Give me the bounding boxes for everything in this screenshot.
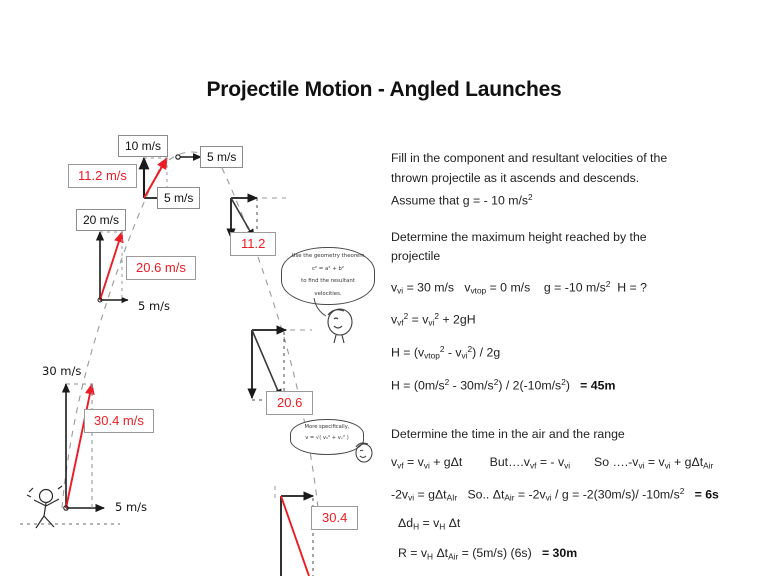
t1-p3: + gΔt	[430, 455, 462, 469]
slide-canvas: Projectile Motion - Angled Launches	[0, 0, 768, 576]
eq3-mid: - 30m/s	[449, 378, 493, 392]
label-launch-vertical: 30 m/s	[37, 362, 86, 380]
assume-exponent: 2	[528, 192, 533, 202]
time-range-prompt: Determine the time in the air and the ra…	[391, 426, 759, 443]
time-equation-2: -2vvi = gΔtAIr So.. ΔtAir = -2vvi / g = …	[391, 484, 759, 506]
apex-origin-dot	[176, 155, 180, 159]
lesson-text-column: Fill in the component and resultant velo…	[391, 150, 759, 575]
t1-p2: = v	[404, 455, 424, 469]
vvtop-subscript: vtop	[470, 285, 486, 295]
mid-ascent-resultant-vector	[100, 232, 122, 300]
height-given-values: vvi = 30 m/s vvtop = 0 m/s g = -10 m/s2 …	[391, 277, 759, 299]
t1-so: So ….-v	[594, 455, 638, 469]
range-answer: = 30m	[542, 546, 577, 560]
eq2-mid: - v	[444, 345, 461, 359]
projectile-trajectory-diagram: 30 m/s 30.4 m/s 5 m/s 20 m/s 20.6 m/s 5 …	[0, 0, 390, 576]
height-prompt-line-2: projectile	[391, 248, 759, 265]
label-upper-ascent-vertical: 10 m/s	[118, 135, 168, 157]
t4-p2sub: Air	[448, 551, 458, 561]
time-equation-1: vvf = vvi + gΔt But….vvf = - vvi So ….-v…	[391, 455, 759, 473]
assume-text: Assume that g = - 10 m/s	[391, 193, 528, 207]
t4-p1: R = v	[398, 546, 427, 560]
t2-p3: So.. Δt	[467, 487, 504, 501]
label-mid-ascent-horizontal: 5 m/s	[133, 297, 175, 315]
t2-p5sup: 2	[680, 486, 685, 496]
height-equation-2: H = (vvtop2 - vvi2) / 2g	[391, 342, 759, 364]
height-equation-1: vvf2 = vvi2 + 2gH	[391, 309, 759, 331]
range-equation-1: ΔdH = vH Δt	[398, 516, 759, 534]
height-equation-3: H = (0m/s2 - 30m/s2) / 2(-10m/s2) = 45m	[391, 375, 759, 393]
t1-but: But….v	[490, 455, 530, 469]
t2-p5: / g = -2(30m/s)/ -10m/s	[552, 487, 680, 501]
label-launch-horizontal: 5 m/s	[110, 498, 152, 516]
label-descent-lower-resultant: 30.4	[311, 506, 358, 530]
instruction-line-2: thrown projectile as it ascends and desc…	[391, 170, 759, 187]
descent-mid-resultant-vector	[252, 330, 281, 398]
label-mid-ascent-vertical: 20 m/s	[76, 209, 126, 231]
height-answer: = 45m	[580, 378, 615, 392]
bubble1-line3: to find the resultant	[282, 278, 374, 291]
assume-gravity: Assume that g = - 10 m/s2	[391, 189, 759, 209]
eq2-asub: vtop	[424, 351, 440, 361]
instruction-line-1: Fill in the component and resultant velo…	[391, 150, 759, 167]
t1-but2: = - v	[536, 455, 564, 469]
label-upper-ascent-resultant: 11.2 m/s	[68, 164, 137, 188]
thrower-figure	[27, 486, 62, 528]
descent-path	[222, 168, 318, 508]
t1-so3sub: Air	[703, 460, 713, 470]
time-answer: = 6s	[695, 487, 719, 501]
vvtop-value: = 0 m/s	[486, 280, 530, 294]
bubble2-line1: More specifically,	[291, 420, 363, 435]
bubble1-line2: c² = a² + b²	[282, 266, 374, 279]
t1-so2: = v	[644, 455, 664, 469]
eq2-lead: H = (v	[391, 345, 424, 359]
t4-p2: Δt	[433, 546, 448, 560]
eq3-lead: H = (0m/s	[391, 378, 445, 392]
height-prompt-line-1: Determine the maximum height reached by …	[391, 229, 759, 246]
eq2-tail: ) / 2g	[472, 345, 500, 359]
descent-lower-resultant-vector	[281, 496, 309, 576]
height-unknown: H = ?	[617, 280, 647, 294]
t2-p3sub: Air	[504, 492, 514, 502]
listener-face-1	[322, 305, 362, 345]
label-launch-resultant: 30.4 m/s	[84, 409, 154, 433]
eq1-tail: + 2gH	[439, 313, 476, 327]
t2-p4: = -2v	[515, 487, 546, 501]
range-equation-2: R = vH ΔtAir = (5m/s) (6s) = 30m	[398, 546, 759, 564]
geometry-theorem-bubble: Use the geometry theorem c² = a² + b² to…	[281, 247, 375, 305]
eq3-mid2: ) / 2(-10m/s	[498, 378, 561, 392]
t3-p3: Δt	[445, 516, 460, 530]
gravity-value: g = -10 m/s	[544, 280, 606, 294]
t3-p2: = v	[419, 516, 439, 530]
eq3-tail: )	[566, 378, 570, 392]
t1-but2sub: vi	[564, 460, 570, 470]
label-descent-upper-resultant: 11.2	[230, 232, 276, 256]
vvi-value: = 30 m/s	[403, 280, 454, 294]
t2-p1: -2v	[391, 487, 408, 501]
t3-p1: Δd	[398, 516, 413, 530]
label-upper-ascent-horizontal: 5 m/s	[157, 187, 200, 209]
gravity-exponent: 2	[606, 279, 611, 289]
bubble1-line1: Use the geometry theorem	[282, 248, 374, 266]
eq1-mid: = v	[408, 313, 428, 327]
label-descent-mid-resultant: 20.6	[266, 391, 313, 415]
label-apex-horizontal: 5 m/s	[200, 146, 243, 168]
t2-p2: = gΔt	[414, 487, 446, 501]
listener-face-2	[352, 440, 382, 470]
t4-p3: = (5m/s) (6s)	[458, 546, 531, 560]
t1-so3: + gΔt	[671, 455, 703, 469]
label-mid-ascent-resultant: 20.6 m/s	[126, 256, 196, 280]
t2-p2sub: AIr	[447, 492, 458, 502]
